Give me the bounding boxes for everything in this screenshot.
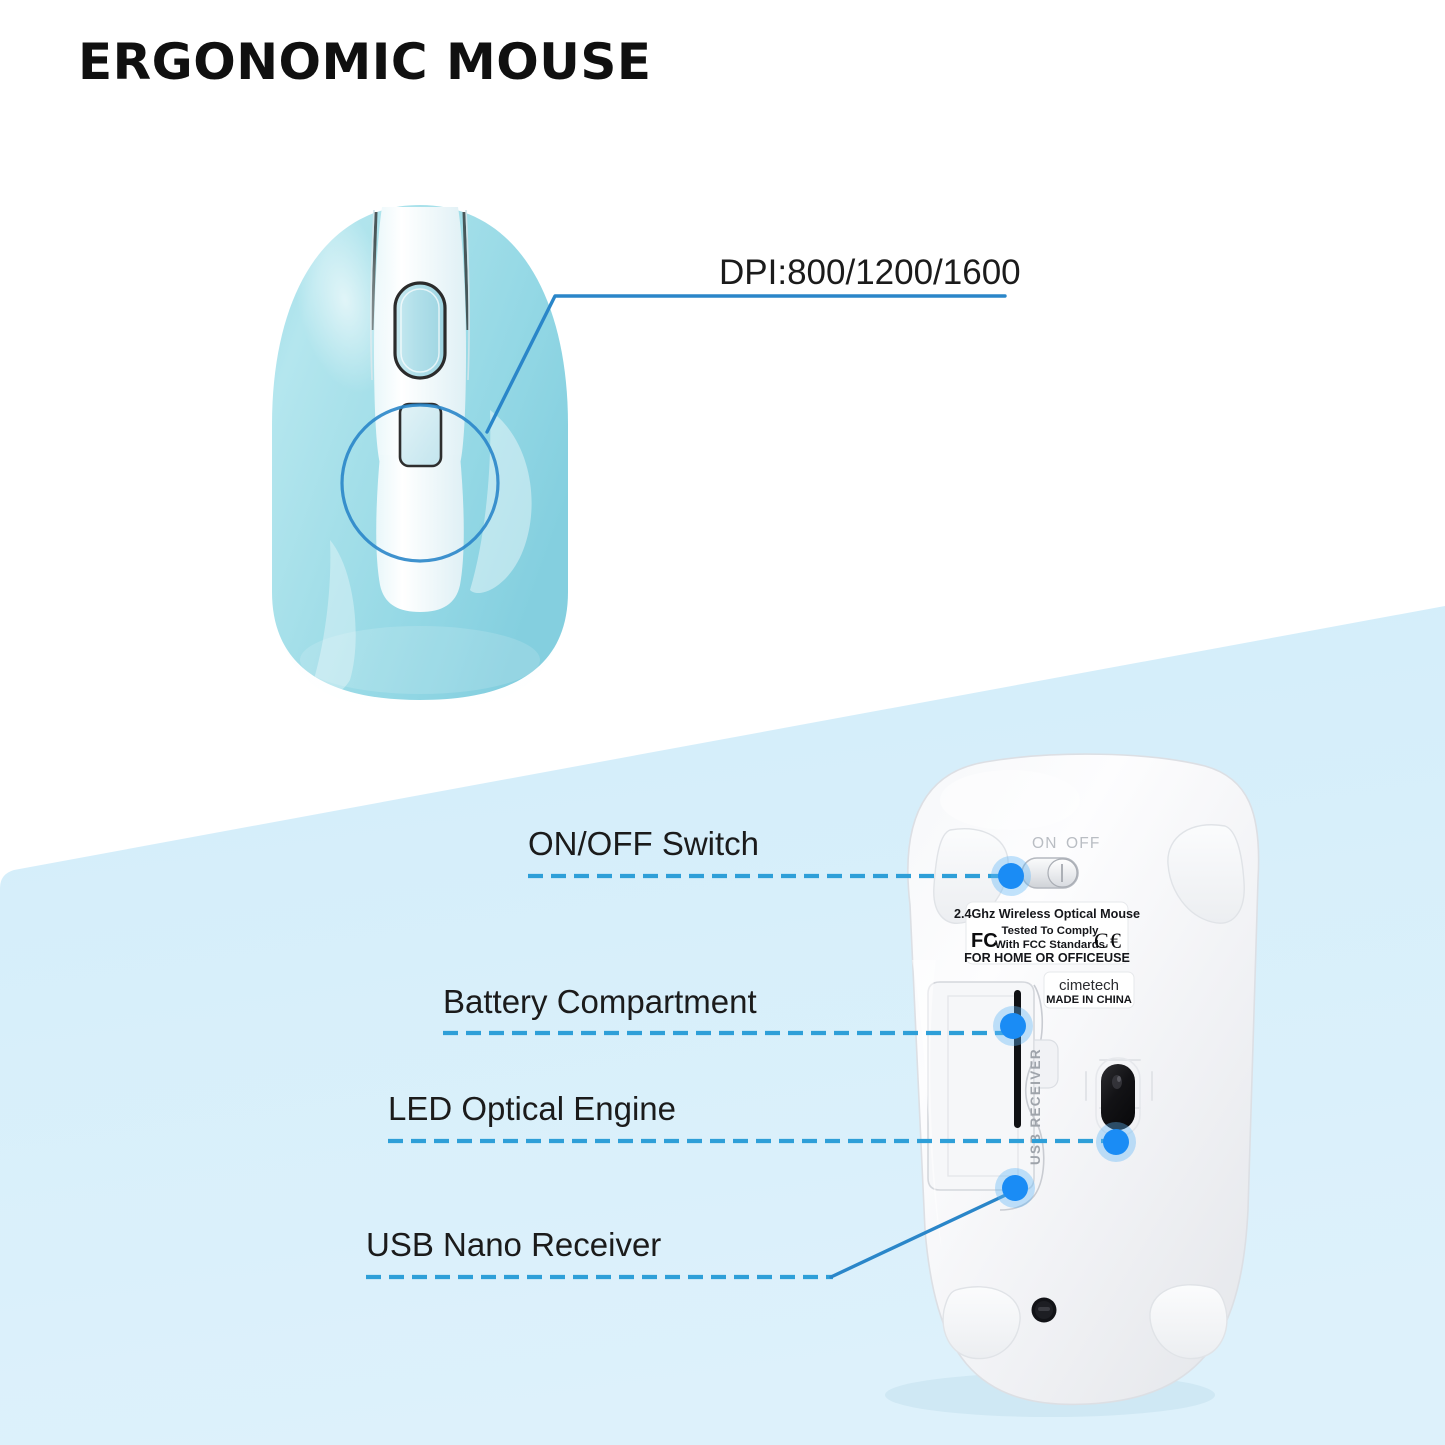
marker-usb	[995, 1168, 1035, 1208]
marker-on-off	[991, 856, 1031, 896]
callout-label-dpi: DPI:800/1200/1600	[719, 253, 1021, 293]
callout-markers	[0, 0, 1445, 1445]
callout-label-battery: Battery Compartment	[443, 983, 757, 1021]
marker-battery	[993, 1006, 1033, 1046]
infographic-canvas: ON OFF 2.4Ghz Wireless Optical Mouse Tes…	[0, 0, 1445, 1445]
callout-label-usb: USB Nano Receiver	[366, 1226, 661, 1264]
callout-label-on-off: ON/OFF Switch	[528, 825, 759, 863]
page-title: ERGONOMIC MOUSE	[78, 33, 652, 91]
callout-label-led: LED Optical Engine	[388, 1090, 676, 1128]
marker-led	[1096, 1122, 1136, 1162]
